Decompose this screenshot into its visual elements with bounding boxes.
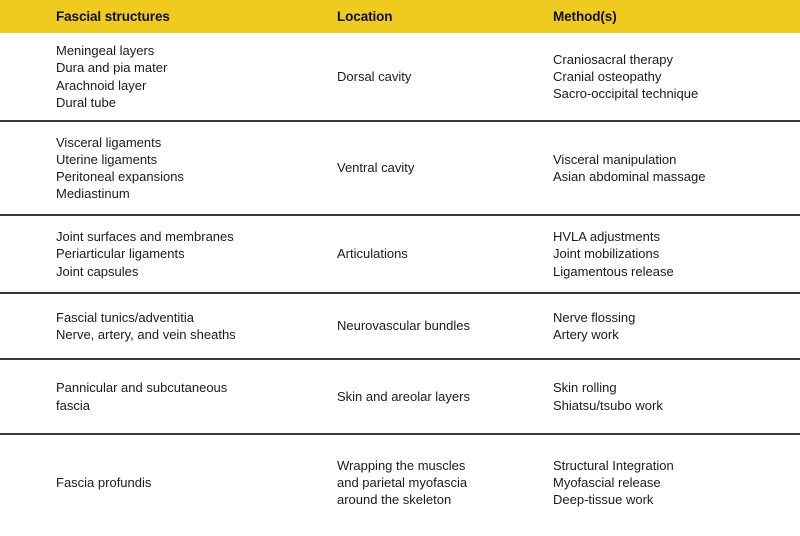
cell-methods: Visceral manipulationAsian abdominal mas… — [553, 122, 800, 214]
cell-text-line: Craniosacral therapy — [553, 51, 800, 68]
cell-fascial-structures: Meningeal layersDura and pia materArachn… — [0, 33, 337, 120]
column-header-fascial-structures: Fascial structures — [0, 10, 337, 24]
cell-fascial-structures: Fascial tunics/adventitiaNerve, artery, … — [0, 294, 337, 358]
cell-text-line: Dura and pia mater — [56, 59, 337, 76]
cell-text-line: Neurovascular bundles — [337, 317, 553, 334]
cell-location: Dorsal cavity — [337, 33, 553, 120]
cell-methods: Nerve flossingArtery work — [553, 294, 800, 358]
cell-text-line: Joint surfaces and membranes — [56, 228, 337, 245]
cell-text-line: Artery work — [553, 326, 800, 343]
cell-location: Wrapping the musclesand parietal myofasc… — [337, 435, 553, 530]
column-header-methods: Method(s) — [553, 10, 800, 24]
cell-text-line: Fascia profundis — [56, 474, 337, 491]
table-body: Meningeal layersDura and pia materArachn… — [0, 33, 800, 530]
cell-fascial-structures: Visceral ligamentsUterine ligamentsPerit… — [0, 122, 337, 214]
cell-text-line: Nerve, artery, and vein sheaths — [56, 326, 337, 343]
cell-methods: Skin rollingShiatsu/tsubo work — [553, 360, 800, 433]
cell-text-line: Arachnoid layer — [56, 77, 337, 94]
table-row: Meningeal layersDura and pia materArachn… — [0, 33, 800, 122]
cell-text-line: Dural tube — [56, 94, 337, 111]
cell-text-line: Asian abdominal massage — [553, 168, 800, 185]
cell-text-line: Peritoneal expansions — [56, 168, 337, 185]
cell-text-line: Structural Integration — [553, 457, 800, 474]
cell-text-line: Ventral cavity — [337, 159, 553, 176]
cell-text-line: Uterine ligaments — [56, 151, 337, 168]
cell-text-line: and parietal myofascia — [337, 474, 553, 491]
cell-text-line: Visceral ligaments — [56, 134, 337, 151]
cell-text-line: Dorsal cavity — [337, 68, 553, 85]
cell-text-line: Meningeal layers — [56, 42, 337, 59]
column-header-location: Location — [337, 10, 553, 24]
cell-location: Articulations — [337, 216, 553, 292]
cell-text-line: Joint mobilizations — [553, 245, 800, 262]
cell-text-line: Visceral manipulation — [553, 151, 800, 168]
table-row: Joint surfaces and membranesPeriarticula… — [0, 216, 800, 294]
table-header-row: Fascial structures Location Method(s) — [0, 0, 800, 33]
cell-text-line: Sacro-occipital technique — [553, 85, 800, 102]
cell-text-line: Skin rolling — [553, 379, 800, 396]
cell-methods: HVLA adjustmentsJoint mobilizationsLigam… — [553, 216, 800, 292]
cell-fascial-structures: Pannicular and subcutaneousfascia — [0, 360, 337, 433]
cell-text-line: Mediastinum — [56, 185, 337, 202]
table-row: Pannicular and subcutaneousfasciaSkin an… — [0, 360, 800, 435]
cell-text-line: Pannicular and subcutaneous — [56, 379, 337, 396]
table-row: Fascia profundisWrapping the musclesand … — [0, 435, 800, 530]
cell-text-line: Myofascial release — [553, 474, 800, 491]
fascial-structures-table: Fascial structures Location Method(s) Me… — [0, 0, 800, 536]
cell-text-line: Cranial osteopathy — [553, 68, 800, 85]
cell-text-line: Periarticular ligaments — [56, 245, 337, 262]
cell-location: Skin and areolar layers — [337, 360, 553, 433]
cell-text-line: Shiatsu/tsubo work — [553, 397, 800, 414]
cell-text-line: around the skeleton — [337, 491, 553, 508]
table-row: Fascial tunics/adventitiaNerve, artery, … — [0, 294, 800, 360]
cell-methods: Craniosacral therapyCranial osteopathySa… — [553, 33, 800, 120]
cell-location: Neurovascular bundles — [337, 294, 553, 358]
cell-text-line: Deep-tissue work — [553, 491, 800, 508]
cell-text-line: fascia — [56, 397, 337, 414]
cell-text-line: Fascial tunics/adventitia — [56, 309, 337, 326]
cell-text-line: Wrapping the muscles — [337, 457, 553, 474]
cell-text-line: Nerve flossing — [553, 309, 800, 326]
cell-fascial-structures: Fascia profundis — [0, 435, 337, 530]
cell-text-line: Joint capsules — [56, 263, 337, 280]
cell-location: Ventral cavity — [337, 122, 553, 214]
cell-methods: Structural IntegrationMyofascial release… — [553, 435, 800, 530]
cell-text-line: HVLA adjustments — [553, 228, 800, 245]
table-row: Visceral ligamentsUterine ligamentsPerit… — [0, 122, 800, 216]
cell-text-line: Skin and areolar layers — [337, 388, 553, 405]
cell-text-line: Articulations — [337, 245, 553, 262]
cell-text-line: Ligamentous release — [553, 263, 800, 280]
cell-fascial-structures: Joint surfaces and membranesPeriarticula… — [0, 216, 337, 292]
